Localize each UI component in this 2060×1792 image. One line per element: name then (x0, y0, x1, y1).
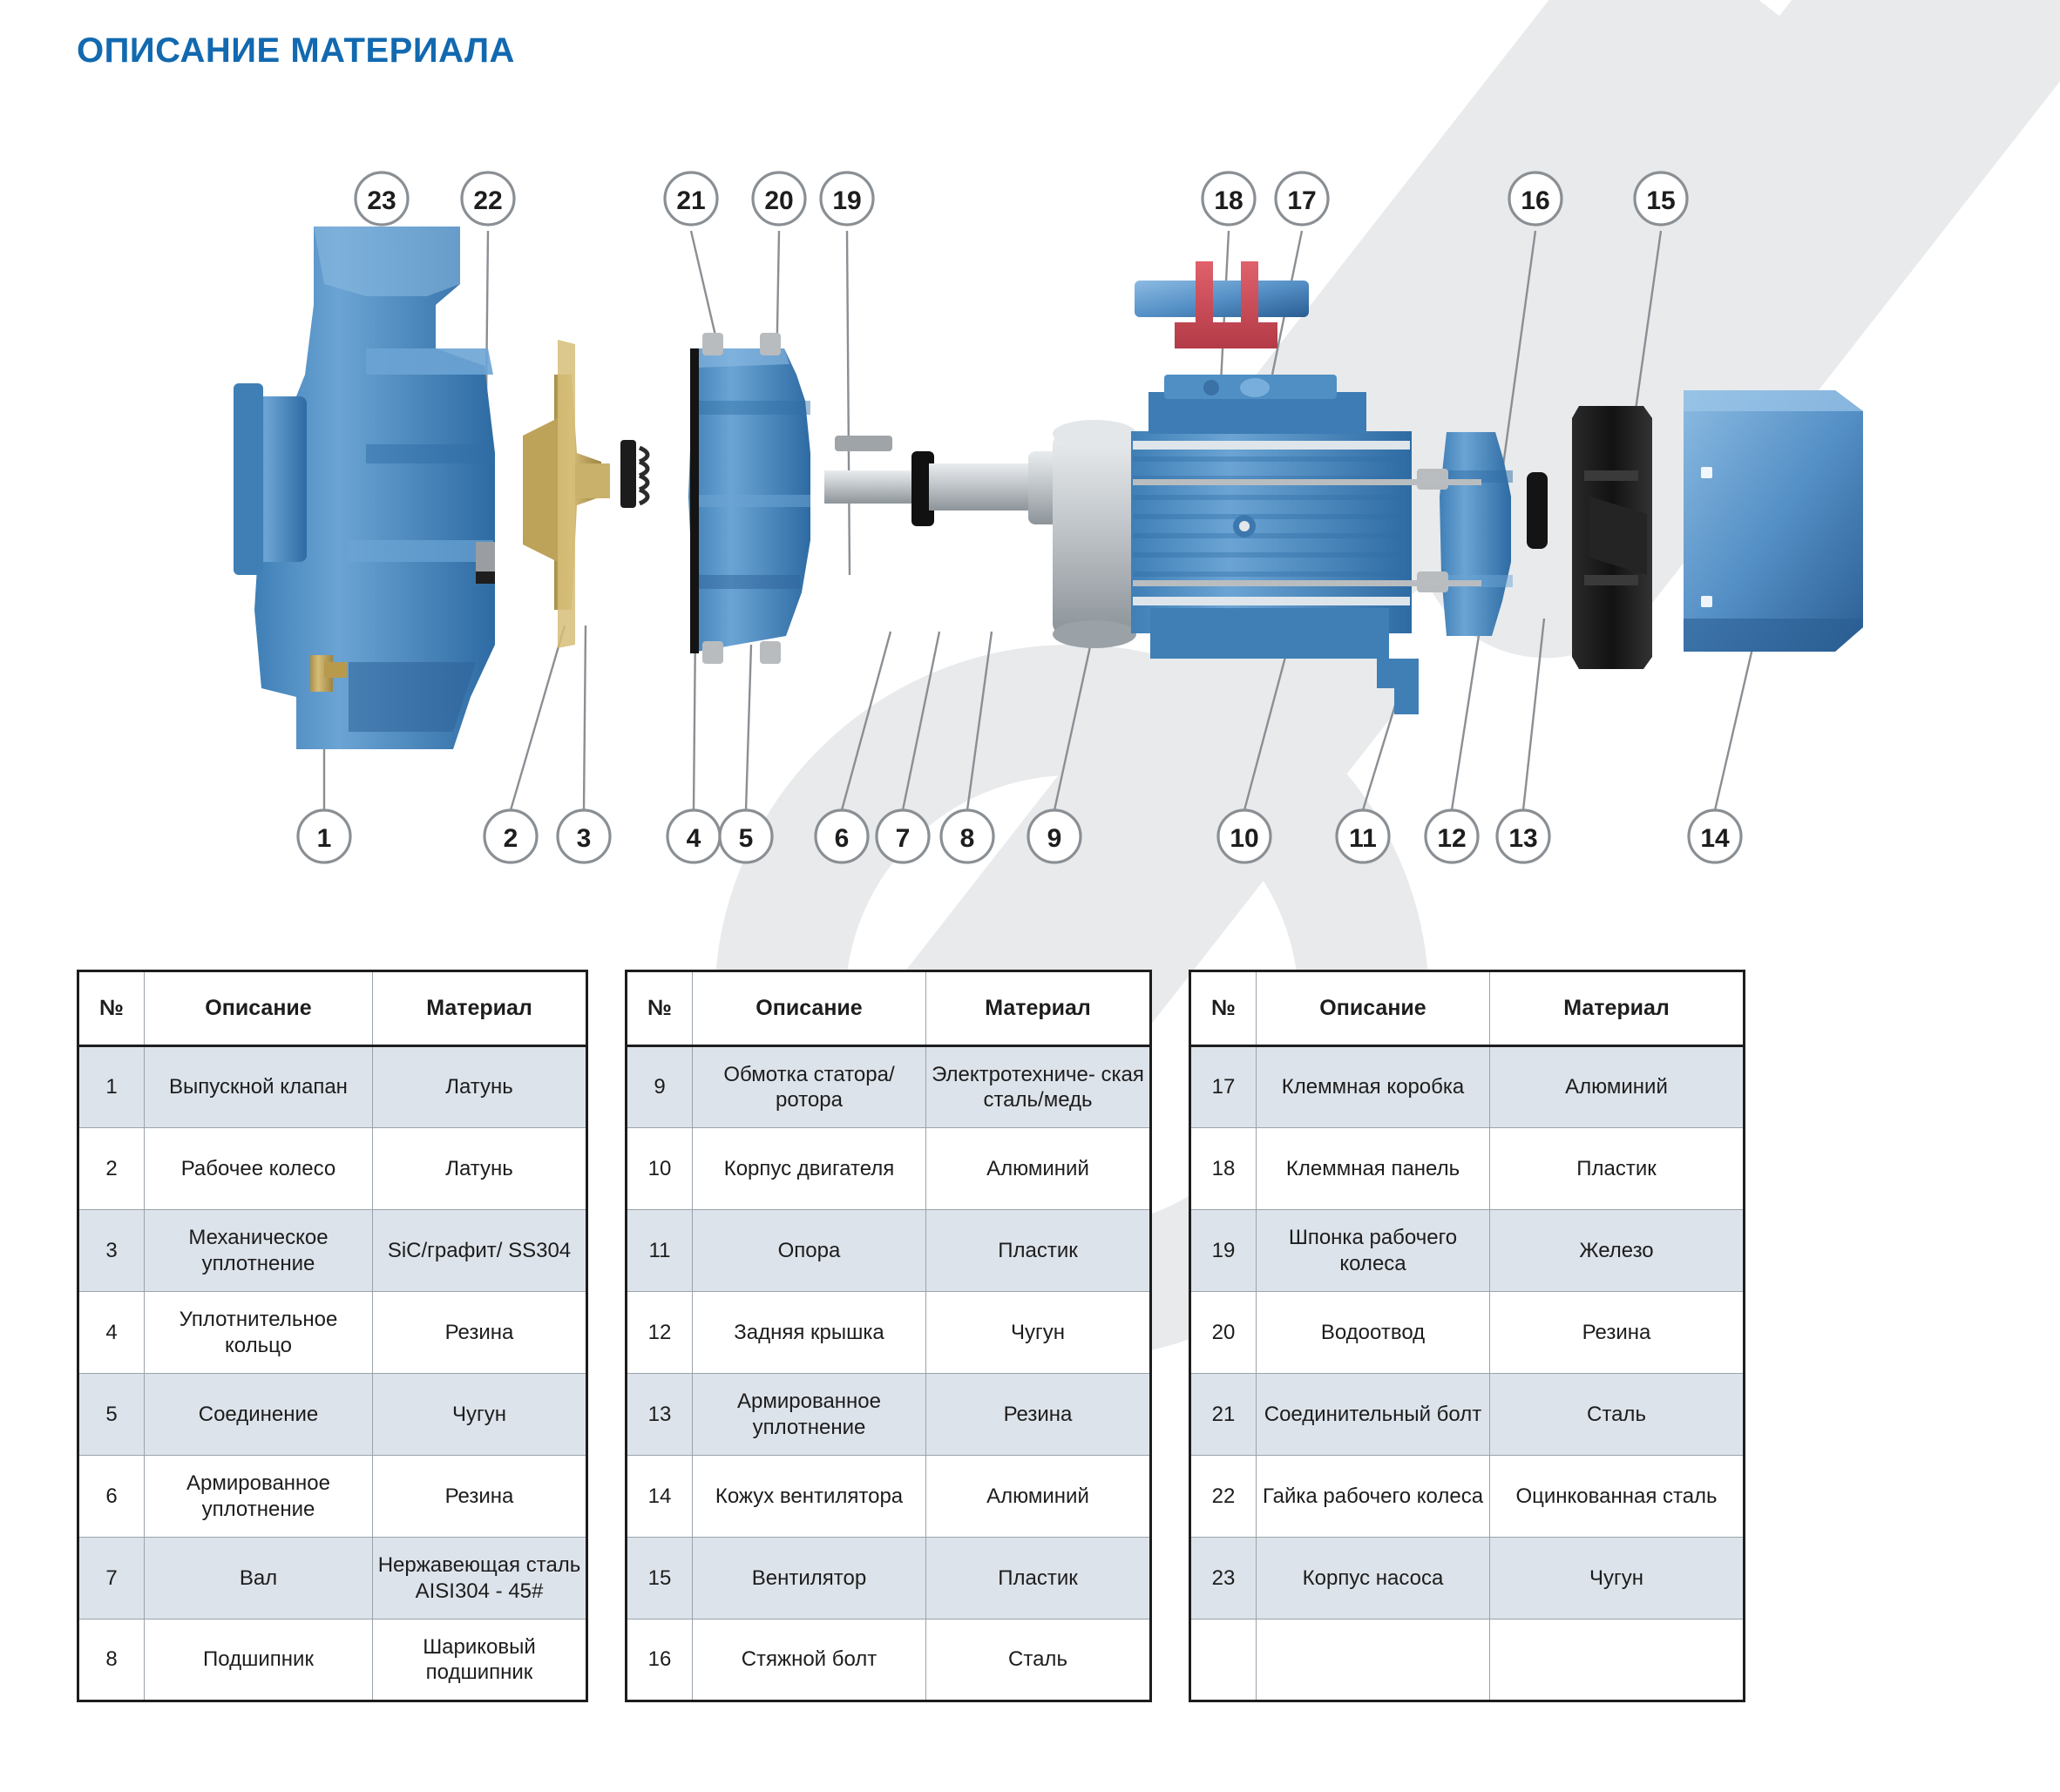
cell-number (1190, 1620, 1257, 1701)
cell-description: Шпонка рабочего колеса (1257, 1210, 1490, 1292)
svg-text:16: 16 (1521, 186, 1549, 215)
cell-description: Корпус двигателя (693, 1128, 926, 1210)
cell-material: SiC/графит/ SS304 (373, 1210, 587, 1292)
callout-8: 8 (941, 810, 993, 862)
cell-material: Резина (1490, 1292, 1745, 1374)
cell-material (1490, 1620, 1745, 1701)
callout-group-top: 23 22 21 20 19 18 17 16 (356, 172, 1687, 225)
table-row: 3 Механическое уплотнение SiC/графит/ SS… (78, 1210, 587, 1292)
table-row: 1 Выпускной клапан Латунь (78, 1046, 587, 1128)
column-header-description: Описание (145, 971, 373, 1046)
cell-number: 3 (78, 1210, 145, 1292)
table-header-row: № Описание Материал (627, 971, 1151, 1046)
table-row: 7 Вал Нержавеющая сталь AISI304 - 45# (78, 1538, 587, 1620)
cell-description: Клеммная панель (1257, 1128, 1490, 1210)
part-motor-housing (1131, 375, 1412, 659)
svg-text:7: 7 (896, 824, 911, 853)
cell-material: Чугун (926, 1292, 1151, 1374)
cell-number: 18 (1190, 1128, 1257, 1210)
table-row: 16 Стяжной болт Сталь (627, 1620, 1151, 1701)
callout-1: 1 (298, 810, 350, 862)
cell-description: Вентилятор (693, 1538, 926, 1620)
svg-text:13: 13 (1508, 824, 1537, 853)
table-row: 13 Армированное уплотнение Резина (627, 1374, 1151, 1456)
cell-material: Сталь (1490, 1374, 1745, 1456)
svg-text:17: 17 (1287, 186, 1316, 215)
cell-number: 14 (627, 1456, 693, 1538)
svg-text:23: 23 (367, 186, 396, 215)
callout-20: 20 (753, 172, 805, 225)
cell-material: Латунь (373, 1128, 587, 1210)
cell-description: Соединение (145, 1374, 373, 1456)
callout-21: 21 (665, 172, 717, 225)
cell-description: Опора (693, 1210, 926, 1292)
part-rear-cover (1417, 432, 1513, 636)
page-title: ОПИСАНИЕ МАТЕРИАЛА (77, 31, 515, 71)
cell-description: Выпускной клапан (145, 1046, 373, 1128)
cell-material: Оцинкованная сталь (1490, 1456, 1745, 1538)
cell-description: Клеммная коробка (1257, 1046, 1490, 1128)
part-support-foot (1377, 659, 1419, 714)
column-header-description: Описание (693, 971, 926, 1046)
column-header-number: № (627, 971, 693, 1046)
cell-number: 7 (78, 1538, 145, 1620)
cell-number: 10 (627, 1128, 693, 1210)
cell-description: Стяжной болт (693, 1620, 926, 1701)
callout-14: 14 (1689, 810, 1741, 862)
cell-description: Уплотнительное кольцо (145, 1292, 373, 1374)
table-row: 23 Корпус насоса Чугун (1190, 1538, 1745, 1620)
material-table-2: № Описание Материал 9 Обмотка статора/ р… (625, 970, 1152, 1702)
callout-10: 10 (1218, 810, 1271, 862)
cell-number: 21 (1190, 1374, 1257, 1456)
cell-number: 15 (627, 1538, 693, 1620)
cell-description (1257, 1620, 1490, 1701)
callout-18: 18 (1203, 172, 1255, 225)
cell-description: Армированное уплотнение (693, 1374, 926, 1456)
part-impeller (523, 340, 610, 648)
callout-4: 4 (667, 810, 720, 862)
callout-11: 11 (1337, 810, 1389, 862)
cell-description: Соединительный болт (1257, 1374, 1490, 1456)
cell-number: 9 (627, 1046, 693, 1128)
cell-number: 17 (1190, 1046, 1257, 1128)
cell-number: 20 (1190, 1292, 1257, 1374)
table-row: 21 Соединительный болт Сталь (1190, 1374, 1745, 1456)
callout-5: 5 (720, 810, 772, 862)
cell-description: Вал (145, 1538, 373, 1620)
cell-material: Резина (926, 1374, 1151, 1456)
part-stator-rotor-winding (1053, 420, 1136, 648)
table-row-empty (1190, 1620, 1745, 1701)
column-header-number: № (1190, 971, 1257, 1046)
cell-material: Пластик (1490, 1128, 1745, 1210)
cell-material: Сталь (926, 1620, 1151, 1701)
svg-text:18: 18 (1214, 186, 1243, 215)
table-row: 22 Гайка рабочего колеса Оцинкованная ст… (1190, 1456, 1745, 1538)
cell-description: Армированное уплотнение (145, 1456, 373, 1538)
table-row: 11 Опора Пластик (627, 1210, 1151, 1292)
cell-material: Пластик (926, 1210, 1151, 1292)
table-row: 6 Армированное уплотнение Резина (78, 1456, 587, 1538)
callout-13: 13 (1497, 810, 1549, 862)
callout-19: 19 (821, 172, 873, 225)
material-tables: № Описание Материал 1 Выпускной клапан Л… (77, 970, 1994, 1702)
callout-22: 22 (462, 172, 514, 225)
table-row: 10 Корпус двигателя Алюминий (627, 1128, 1151, 1210)
svg-text:5: 5 (739, 824, 754, 853)
callout-6: 6 (816, 810, 868, 862)
svg-text:21: 21 (676, 186, 705, 215)
cell-number: 2 (78, 1128, 145, 1210)
callout-7: 7 (877, 810, 929, 862)
cell-number: 6 (78, 1456, 145, 1538)
svg-text:1: 1 (317, 824, 332, 853)
svg-text:11: 11 (1349, 824, 1377, 853)
cell-material: Железо (1490, 1210, 1745, 1292)
svg-text:3: 3 (577, 824, 592, 853)
cell-description: Корпус насоса (1257, 1538, 1490, 1620)
cell-number: 19 (1190, 1210, 1257, 1292)
svg-text:22: 22 (473, 186, 502, 215)
cell-material: Алюминий (926, 1128, 1151, 1210)
cell-material: Шариковый подшипник (373, 1620, 587, 1701)
callout-17: 17 (1276, 172, 1328, 225)
svg-text:4: 4 (687, 824, 701, 853)
table-row: 2 Рабочее колесо Латунь (78, 1128, 587, 1210)
column-header-description: Описание (1257, 971, 1490, 1046)
table-row: 19 Шпонка рабочего колеса Железо (1190, 1210, 1745, 1292)
pump-exploded-diagram: 23 22 21 20 19 18 17 16 (0, 87, 2060, 958)
cell-number: 8 (78, 1620, 145, 1701)
table-row: 8 Подшипник Шариковый подшипник (78, 1620, 587, 1701)
material-table-1: № Описание Материал 1 Выпускной клапан Л… (77, 970, 588, 1702)
table-row: 9 Обмотка статора/ ротора Электротехниче… (627, 1046, 1151, 1128)
cell-description: Рабочее колесо (145, 1128, 373, 1210)
cell-material: Электротехниче- ская сталь/медь (926, 1046, 1151, 1128)
part-mechanical-seal (620, 440, 647, 508)
part-rear-reinforced-seal (1527, 472, 1548, 549)
cell-number: 4 (78, 1292, 145, 1374)
cell-material: Чугун (373, 1374, 587, 1456)
cell-material: Резина (373, 1456, 587, 1538)
table-row: 18 Клеммная панель Пластик (1190, 1128, 1745, 1210)
cell-number: 12 (627, 1292, 693, 1374)
part-impeller-nut (476, 542, 495, 584)
cell-material: Пластик (926, 1538, 1151, 1620)
cell-description: Подшипник (145, 1620, 373, 1701)
svg-text:9: 9 (1047, 824, 1062, 853)
part-terminal-box (1135, 281, 1309, 317)
cell-description: Гайка рабочего колеса (1257, 1456, 1490, 1538)
material-table-3: № Описание Материал 17 Клеммная коробка … (1189, 970, 1745, 1702)
part-fan (1572, 406, 1652, 669)
cell-number: 11 (627, 1210, 693, 1292)
svg-text:8: 8 (960, 824, 975, 853)
svg-text:19: 19 (832, 186, 861, 215)
svg-text:10: 10 (1230, 824, 1258, 853)
cell-description: Механическое уплотнение (145, 1210, 373, 1292)
callout-16: 16 (1509, 172, 1562, 225)
svg-text:20: 20 (764, 186, 793, 215)
callout-group-bottom: 1 2 3 4 5 6 7 8 (298, 810, 1741, 862)
table-header-row: № Описание Материал (1190, 971, 1745, 1046)
table-row: 12 Задняя крышка Чугун (627, 1292, 1151, 1374)
part-fan-cover (1684, 390, 1863, 652)
cell-number: 22 (1190, 1456, 1257, 1538)
cell-material: Чугун (1490, 1538, 1745, 1620)
cell-material: Латунь (373, 1046, 587, 1128)
svg-text:12: 12 (1437, 824, 1466, 853)
cell-material: Алюминий (1490, 1046, 1745, 1128)
cell-description: Водоотвод (1257, 1292, 1490, 1374)
callout-2: 2 (485, 810, 537, 862)
table-row: 20 Водоотвод Резина (1190, 1292, 1745, 1374)
svg-text:14: 14 (1700, 824, 1730, 853)
cell-material: Нержавеющая сталь AISI304 - 45# (373, 1538, 587, 1620)
table-row: 14 Кожух вентилятора Алюминий (627, 1456, 1151, 1538)
cell-number: 1 (78, 1046, 145, 1128)
table-row: 4 Уплотнительное кольцо Резина (78, 1292, 587, 1374)
cell-number: 23 (1190, 1538, 1257, 1620)
part-pump-casing (234, 227, 495, 749)
cell-material: Алюминий (926, 1456, 1151, 1538)
callout-15: 15 (1635, 172, 1687, 225)
column-header-material: Материал (1490, 971, 1745, 1046)
callout-9: 9 (1028, 810, 1081, 862)
table-header-row: № Описание Материал (78, 971, 587, 1046)
cell-number: 13 (627, 1374, 693, 1456)
leader-lines-bottom (324, 619, 1753, 810)
callout-12: 12 (1426, 810, 1478, 862)
table-row: 15 Вентилятор Пластик (627, 1538, 1151, 1620)
column-header-number: № (78, 971, 145, 1046)
callout-3: 3 (558, 810, 610, 862)
column-header-material: Материал (373, 971, 587, 1046)
table-row: 17 Клеммная коробка Алюминий (1190, 1046, 1745, 1128)
cell-description: Обмотка статора/ ротора (693, 1046, 926, 1128)
callout-23: 23 (356, 172, 408, 225)
cell-number: 16 (627, 1620, 693, 1701)
svg-text:15: 15 (1646, 186, 1675, 215)
column-header-material: Материал (926, 971, 1151, 1046)
svg-text:6: 6 (835, 824, 850, 853)
cell-description: Кожух вентилятора (693, 1456, 926, 1538)
table-row: 5 Соединение Чугун (78, 1374, 587, 1456)
cell-material: Резина (373, 1292, 587, 1374)
svg-text:2: 2 (504, 824, 518, 853)
cell-number: 5 (78, 1374, 145, 1456)
cell-description: Задняя крышка (693, 1292, 926, 1374)
